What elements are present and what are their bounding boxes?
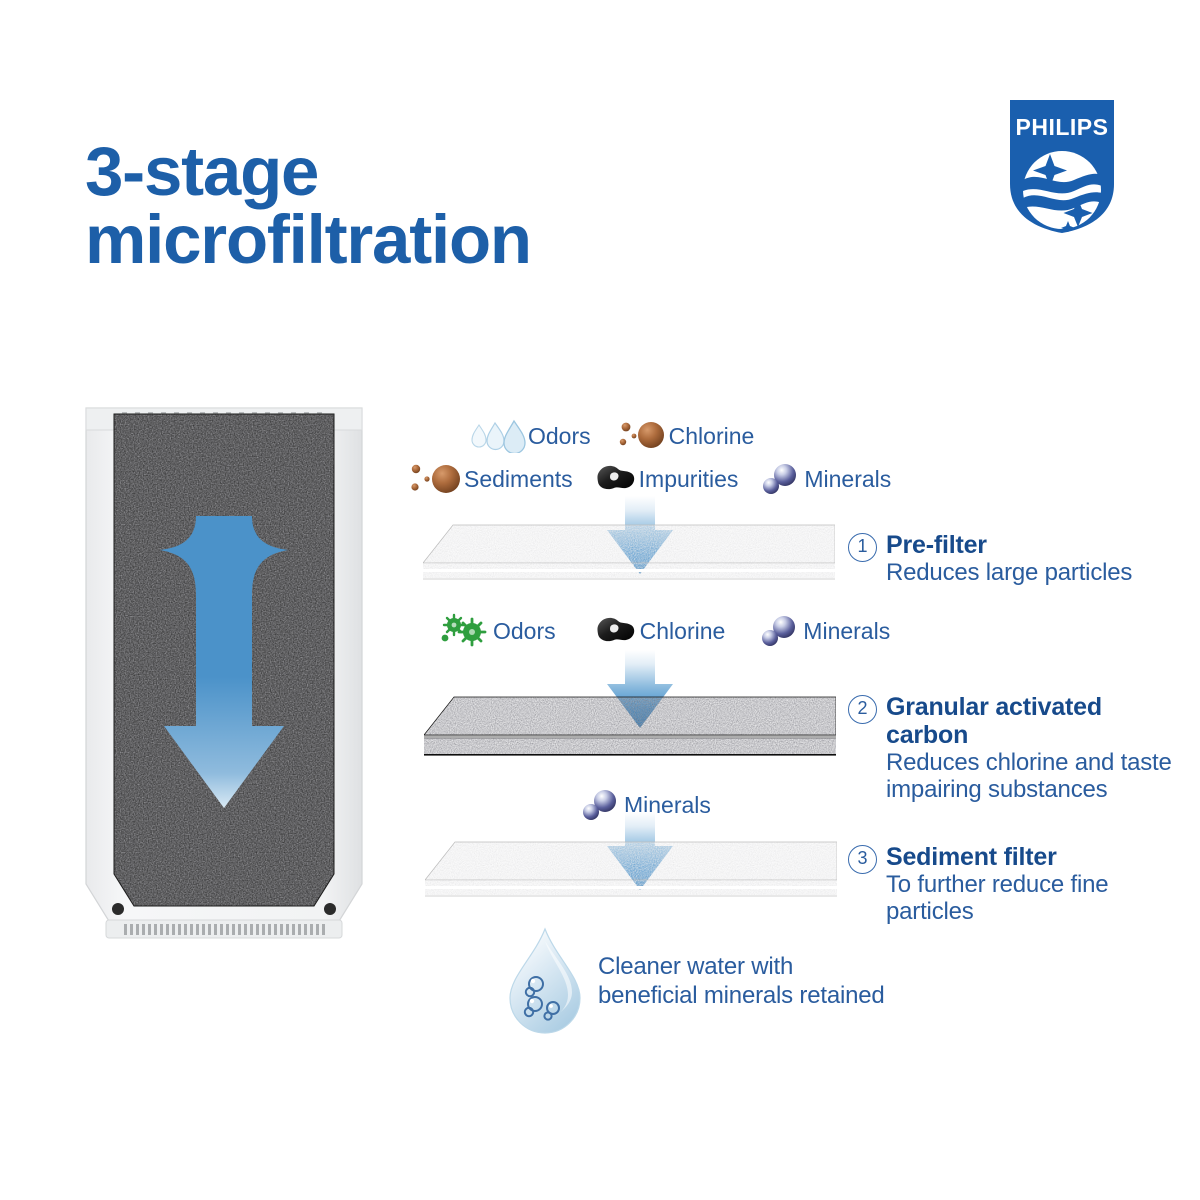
chip-chlorine-1: Chlorine [617,418,755,454]
mineral-spheres-icon [757,613,803,649]
title-line-1: 3-stage [85,133,318,210]
chip-minerals-1: Minerals [758,461,891,497]
mineral-spheres-icon [758,461,804,497]
philips-shield-logo: PHILIPS [1006,96,1118,236]
stage-1-text: 1 Pre-filter Reduces large particles [848,531,1178,586]
water-filter-cartridge [78,396,370,956]
chip-label: Odors [493,618,556,645]
stage-number-badge: 1 [848,533,877,562]
stage-heading: Pre-filter [886,531,1178,559]
brown-particle-icon [408,460,464,498]
stage-number-badge: 2 [848,695,877,724]
black-blob-icon [593,462,639,496]
chip-odors-2: Odors [441,613,556,649]
page-title: 3-stage microfiltration [85,138,725,273]
stage-heading: Granular activated carbon [886,693,1188,749]
water-drop-with-minerals-icon [500,925,590,1040]
stage-description: To further reduce fine particles [886,871,1198,926]
contaminant-row-2: Sediments Impurities Minerals [408,460,891,498]
carbon-block [108,410,344,914]
chip-impurities: Impurities [593,462,739,496]
filter-slab-stage-3 [425,836,837,908]
chip-minerals-2: Minerals [757,613,890,649]
filter-slab-stage-1 [423,519,835,591]
chip-label: Impurities [639,466,739,493]
contaminant-row-1: Odors Chlorine [470,418,754,454]
chip-label: Minerals [803,618,890,645]
bottom-dot-left [112,903,124,915]
title-line-2: microfiltration [85,206,725,274]
slab-top [423,525,835,563]
water-droplets-icon [470,419,528,453]
philips-wordmark: PHILIPS [1016,114,1109,140]
outcome-line-1: Cleaner water with [598,953,928,982]
chip-odors-1: Odors [470,419,591,453]
chip-label: Chlorine [669,423,755,450]
outcome-text: Cleaner water with beneficial minerals r… [598,953,928,1011]
infographic-canvas: 3-stage microfiltration PHILIPS [0,0,1200,1200]
brown-particle-icon [617,418,669,454]
chip-chlorine-2: Chlorine [592,614,726,648]
stage-number-badge: 3 [848,845,877,874]
chip-label: Odors [528,423,591,450]
slab-top [424,697,836,735]
chip-sediments: Sediments [408,460,573,498]
stage-heading: Sediment filter [886,843,1198,871]
green-microbe-icon [441,613,493,649]
slab-top [425,842,837,880]
outcome-line-2: beneficial minerals retained [598,982,928,1011]
stage-2-text: 2 Granular activated carbon Reduces chlo… [848,693,1188,804]
chip-label: Sediments [464,466,573,493]
black-blob-icon [592,614,640,648]
chip-label: Minerals [804,466,891,493]
stage-description: Reduces chlorine and taste impairing sub… [886,749,1188,804]
stage-description: Reduces large particles [886,559,1178,586]
bottom-dot-right [324,903,336,915]
chip-label: Chlorine [640,618,726,645]
filter-slab-stage-2 [424,693,836,765]
stage-3-text: 3 Sediment filter To further reduce fine… [848,843,1198,926]
stage-2-input-row: Odors Chlorine Minerals [441,613,890,649]
